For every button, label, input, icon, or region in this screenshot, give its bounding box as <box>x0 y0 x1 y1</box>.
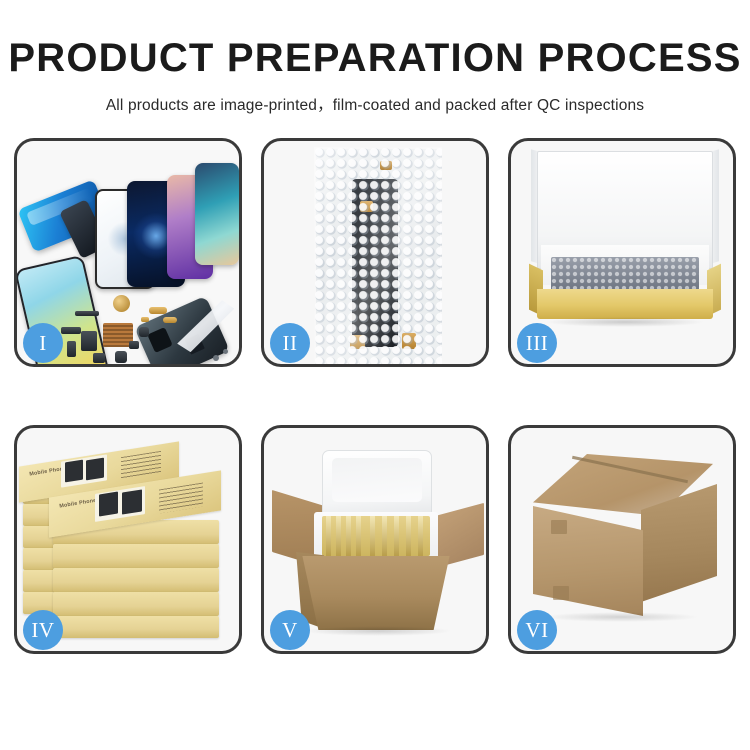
earpiece-icon <box>115 351 127 363</box>
stacked-box <box>53 616 219 638</box>
process-step-panel-4: Mobile Phone Spare Parts Mobile Phone Sp… <box>14 425 242 654</box>
carton-front-icon <box>533 506 643 616</box>
process-step-grid: I II II <box>14 138 736 654</box>
screw-set-icon <box>223 349 228 354</box>
carton-tape-icon <box>553 586 569 600</box>
stacked-box <box>53 544 219 568</box>
process-step-panel-5: V <box>261 425 489 654</box>
home-button-flex-icon <box>163 317 177 323</box>
carton-tape-icon <box>551 520 567 534</box>
teal-gradient-phone-icon <box>195 163 239 265</box>
bubble-wrapped-contents-icon <box>551 257 699 291</box>
drop-shadow <box>304 626 452 636</box>
box-label-screen-image <box>86 458 104 481</box>
process-step-panel-3: III <box>508 138 736 367</box>
loudspeaker-contact-icon <box>141 317 149 322</box>
page-title: PRODUCT PREPARATION PROCESS <box>0 36 750 81</box>
process-step-panel-1: I <box>14 138 242 367</box>
box-label-screen-image <box>122 489 142 514</box>
stacked-box <box>53 568 219 592</box>
antenna-strip-icon <box>75 311 99 316</box>
page-subtitle: All products are image-printed，film-coat… <box>0 93 750 115</box>
drop-shadow <box>543 612 699 622</box>
process-step-panel-2: II <box>261 138 489 367</box>
plastic-sheen-icon <box>314 147 442 364</box>
box-label-screen-image <box>65 460 83 483</box>
step-badge-1: I <box>23 323 63 363</box>
carton-front-icon <box>296 556 456 630</box>
step-badge-3: III <box>517 323 557 363</box>
kraft-box-front-icon <box>537 289 713 319</box>
sim-tray-icon <box>93 353 105 363</box>
charging-port-flex-icon <box>61 327 81 334</box>
drop-shadow <box>545 317 705 327</box>
step-badge-4: IV <box>23 610 63 650</box>
volume-button-flex-icon <box>67 341 76 357</box>
foam-lid-icon <box>322 450 432 518</box>
battery-connector-icon <box>129 341 139 349</box>
vibration-motor-icon <box>113 295 130 312</box>
page-header: PRODUCT PREPARATION PROCESS All products… <box>0 0 750 115</box>
screw-set-icon <box>213 355 219 361</box>
step-badge-2: II <box>270 323 310 363</box>
process-step-panel-6: VI <box>508 425 736 654</box>
flex-cable-icon <box>149 307 167 314</box>
packed-yellow-boxes-icon <box>322 516 430 556</box>
step-badge-5: V <box>270 610 310 650</box>
speaker-mesh-icon <box>81 331 97 351</box>
stacked-box <box>53 592 219 616</box>
camera-module-icon <box>139 327 149 337</box>
step-badge-6: VI <box>517 610 557 650</box>
box-label-screen-image <box>99 491 118 516</box>
